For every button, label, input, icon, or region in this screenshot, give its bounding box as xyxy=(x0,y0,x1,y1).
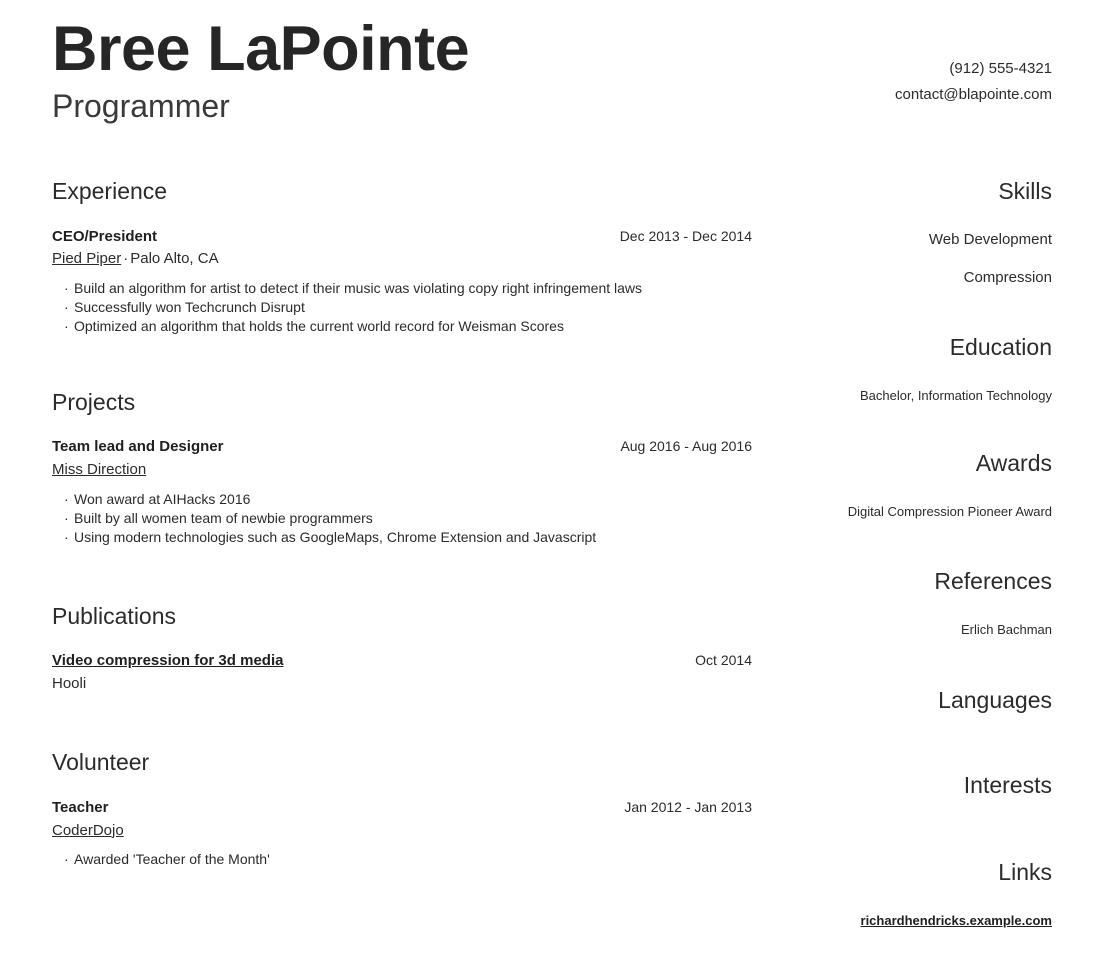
contact-phone[interactable]: (912) 555-4321 xyxy=(895,56,1052,82)
entry-role: Team lead and Designer xyxy=(52,438,223,457)
entry-header-row: Video compression for 3d media Oct 2014 xyxy=(52,652,752,671)
entry-organization: CoderDojo xyxy=(52,821,752,841)
section-awards: Awards Digital Compression Pioneer Award xyxy=(780,450,1052,520)
experience-entry: CEO/President Dec 2013 - Dec 2014 Pied P… xyxy=(52,228,752,337)
organization-separator: · xyxy=(123,250,128,267)
section-heading-awards: Awards xyxy=(780,450,1052,478)
section-heading-projects: Projects xyxy=(52,389,752,417)
publisher-name: Hooli xyxy=(52,675,86,692)
section-heading-interests: Interests xyxy=(780,772,1052,800)
section-heading-languages: Languages xyxy=(780,687,1052,715)
entry-header-row: Teacher Jan 2012 - Jan 2013 xyxy=(52,799,752,818)
entry-organization: Hooli xyxy=(52,674,752,694)
resume-body: Experience CEO/President Dec 2013 - Dec … xyxy=(52,128,1052,930)
project-entry: Team lead and Designer Aug 2016 - Aug 20… xyxy=(52,438,752,547)
volunteer-entry: Teacher Jan 2012 - Jan 2013 CoderDojo Aw… xyxy=(52,799,752,870)
section-volunteer: Volunteer Teacher Jan 2012 - Jan 2013 Co… xyxy=(52,749,752,869)
entry-organization: Miss Direction xyxy=(52,460,752,480)
resume-page: Bree LaPointe Programmer (912) 555-4321 … xyxy=(0,0,1104,963)
section-heading-references: References xyxy=(780,568,1052,596)
section-heading-publications: Publications xyxy=(52,603,752,631)
section-interests: Interests xyxy=(780,772,1052,800)
reference-item: Erlich Bachman xyxy=(780,621,1052,639)
education-item: Bachelor, Information Technology xyxy=(780,387,1052,405)
bullet-item: Optimized an algorithm that holds the cu… xyxy=(64,317,752,336)
skill-item: Web Development xyxy=(780,230,1052,250)
bullet-item: Won award at AIHacks 2016 xyxy=(64,490,752,509)
side-column: Skills Web Development Compression Educa… xyxy=(752,128,1052,930)
entry-organization: Pied Piper·Palo Alto, CA xyxy=(52,249,752,269)
section-projects: Projects Team lead and Designer Aug 2016… xyxy=(52,389,752,548)
section-publications: Publications Video compression for 3d me… xyxy=(52,603,752,694)
entry-header-row: Team lead and Designer Aug 2016 - Aug 20… xyxy=(52,438,752,457)
entry-location: Palo Alto, CA xyxy=(130,250,218,267)
publication-title-link[interactable]: Video compression for 3d media xyxy=(52,652,283,671)
entry-bullet-list: Awarded 'Teacher of the Month' xyxy=(52,850,752,869)
section-experience: Experience CEO/President Dec 2013 - Dec … xyxy=(52,178,752,337)
website-link[interactable]: richardhendricks.example.com xyxy=(780,912,1052,930)
organization-link[interactable]: Pied Piper xyxy=(52,250,121,267)
bullet-item: Successfully won Techcrunch Disrupt xyxy=(64,298,752,317)
bullet-item: Built by all women team of newbie progra… xyxy=(64,509,752,528)
main-column: Experience CEO/President Dec 2013 - Dec … xyxy=(52,128,752,870)
section-education: Education Bachelor, Information Technolo… xyxy=(780,334,1052,404)
skill-item: Compression xyxy=(780,268,1052,288)
resume-header: Bree LaPointe Programmer (912) 555-4321 … xyxy=(52,0,1052,128)
contact-block: (912) 555-4321 contact@blapointe.com xyxy=(895,56,1052,108)
entry-bullet-list: Build an algorithm for artist to detect … xyxy=(52,279,752,337)
section-references: References Erlich Bachman xyxy=(780,568,1052,638)
entry-date: Aug 2016 - Aug 2016 xyxy=(600,438,752,454)
organization-link[interactable]: Miss Direction xyxy=(52,461,146,478)
entry-role: CEO/President xyxy=(52,228,157,247)
contact-email[interactable]: contact@blapointe.com xyxy=(895,82,1052,108)
entry-date: Oct 2014 xyxy=(675,652,752,668)
entry-date: Jan 2012 - Jan 2013 xyxy=(604,799,752,815)
organization-link[interactable]: CoderDojo xyxy=(52,822,124,839)
section-heading-education: Education xyxy=(780,334,1052,362)
section-heading-skills: Skills xyxy=(780,178,1052,206)
section-skills: Skills Web Development Compression xyxy=(780,178,1052,288)
entry-header-row: CEO/President Dec 2013 - Dec 2014 xyxy=(52,228,752,247)
bullet-item: Build an algorithm for artist to detect … xyxy=(64,279,752,298)
section-heading-volunteer: Volunteer xyxy=(52,749,752,777)
bullet-item: Awarded 'Teacher of the Month' xyxy=(64,850,752,869)
publication-entry: Video compression for 3d media Oct 2014 … xyxy=(52,652,752,693)
section-heading-links: Links xyxy=(780,859,1052,887)
section-heading-experience: Experience xyxy=(52,178,752,206)
section-languages: Languages xyxy=(780,687,1052,715)
entry-role: Teacher xyxy=(52,799,108,818)
entry-date: Dec 2013 - Dec 2014 xyxy=(600,228,752,244)
entry-bullet-list: Won award at AIHacks 2016 Built by all w… xyxy=(52,490,752,548)
award-item: Digital Compression Pioneer Award xyxy=(780,503,1052,521)
section-links: Links richardhendricks.example.com xyxy=(780,859,1052,930)
bullet-item: Using modern technologies such as Google… xyxy=(64,528,752,547)
